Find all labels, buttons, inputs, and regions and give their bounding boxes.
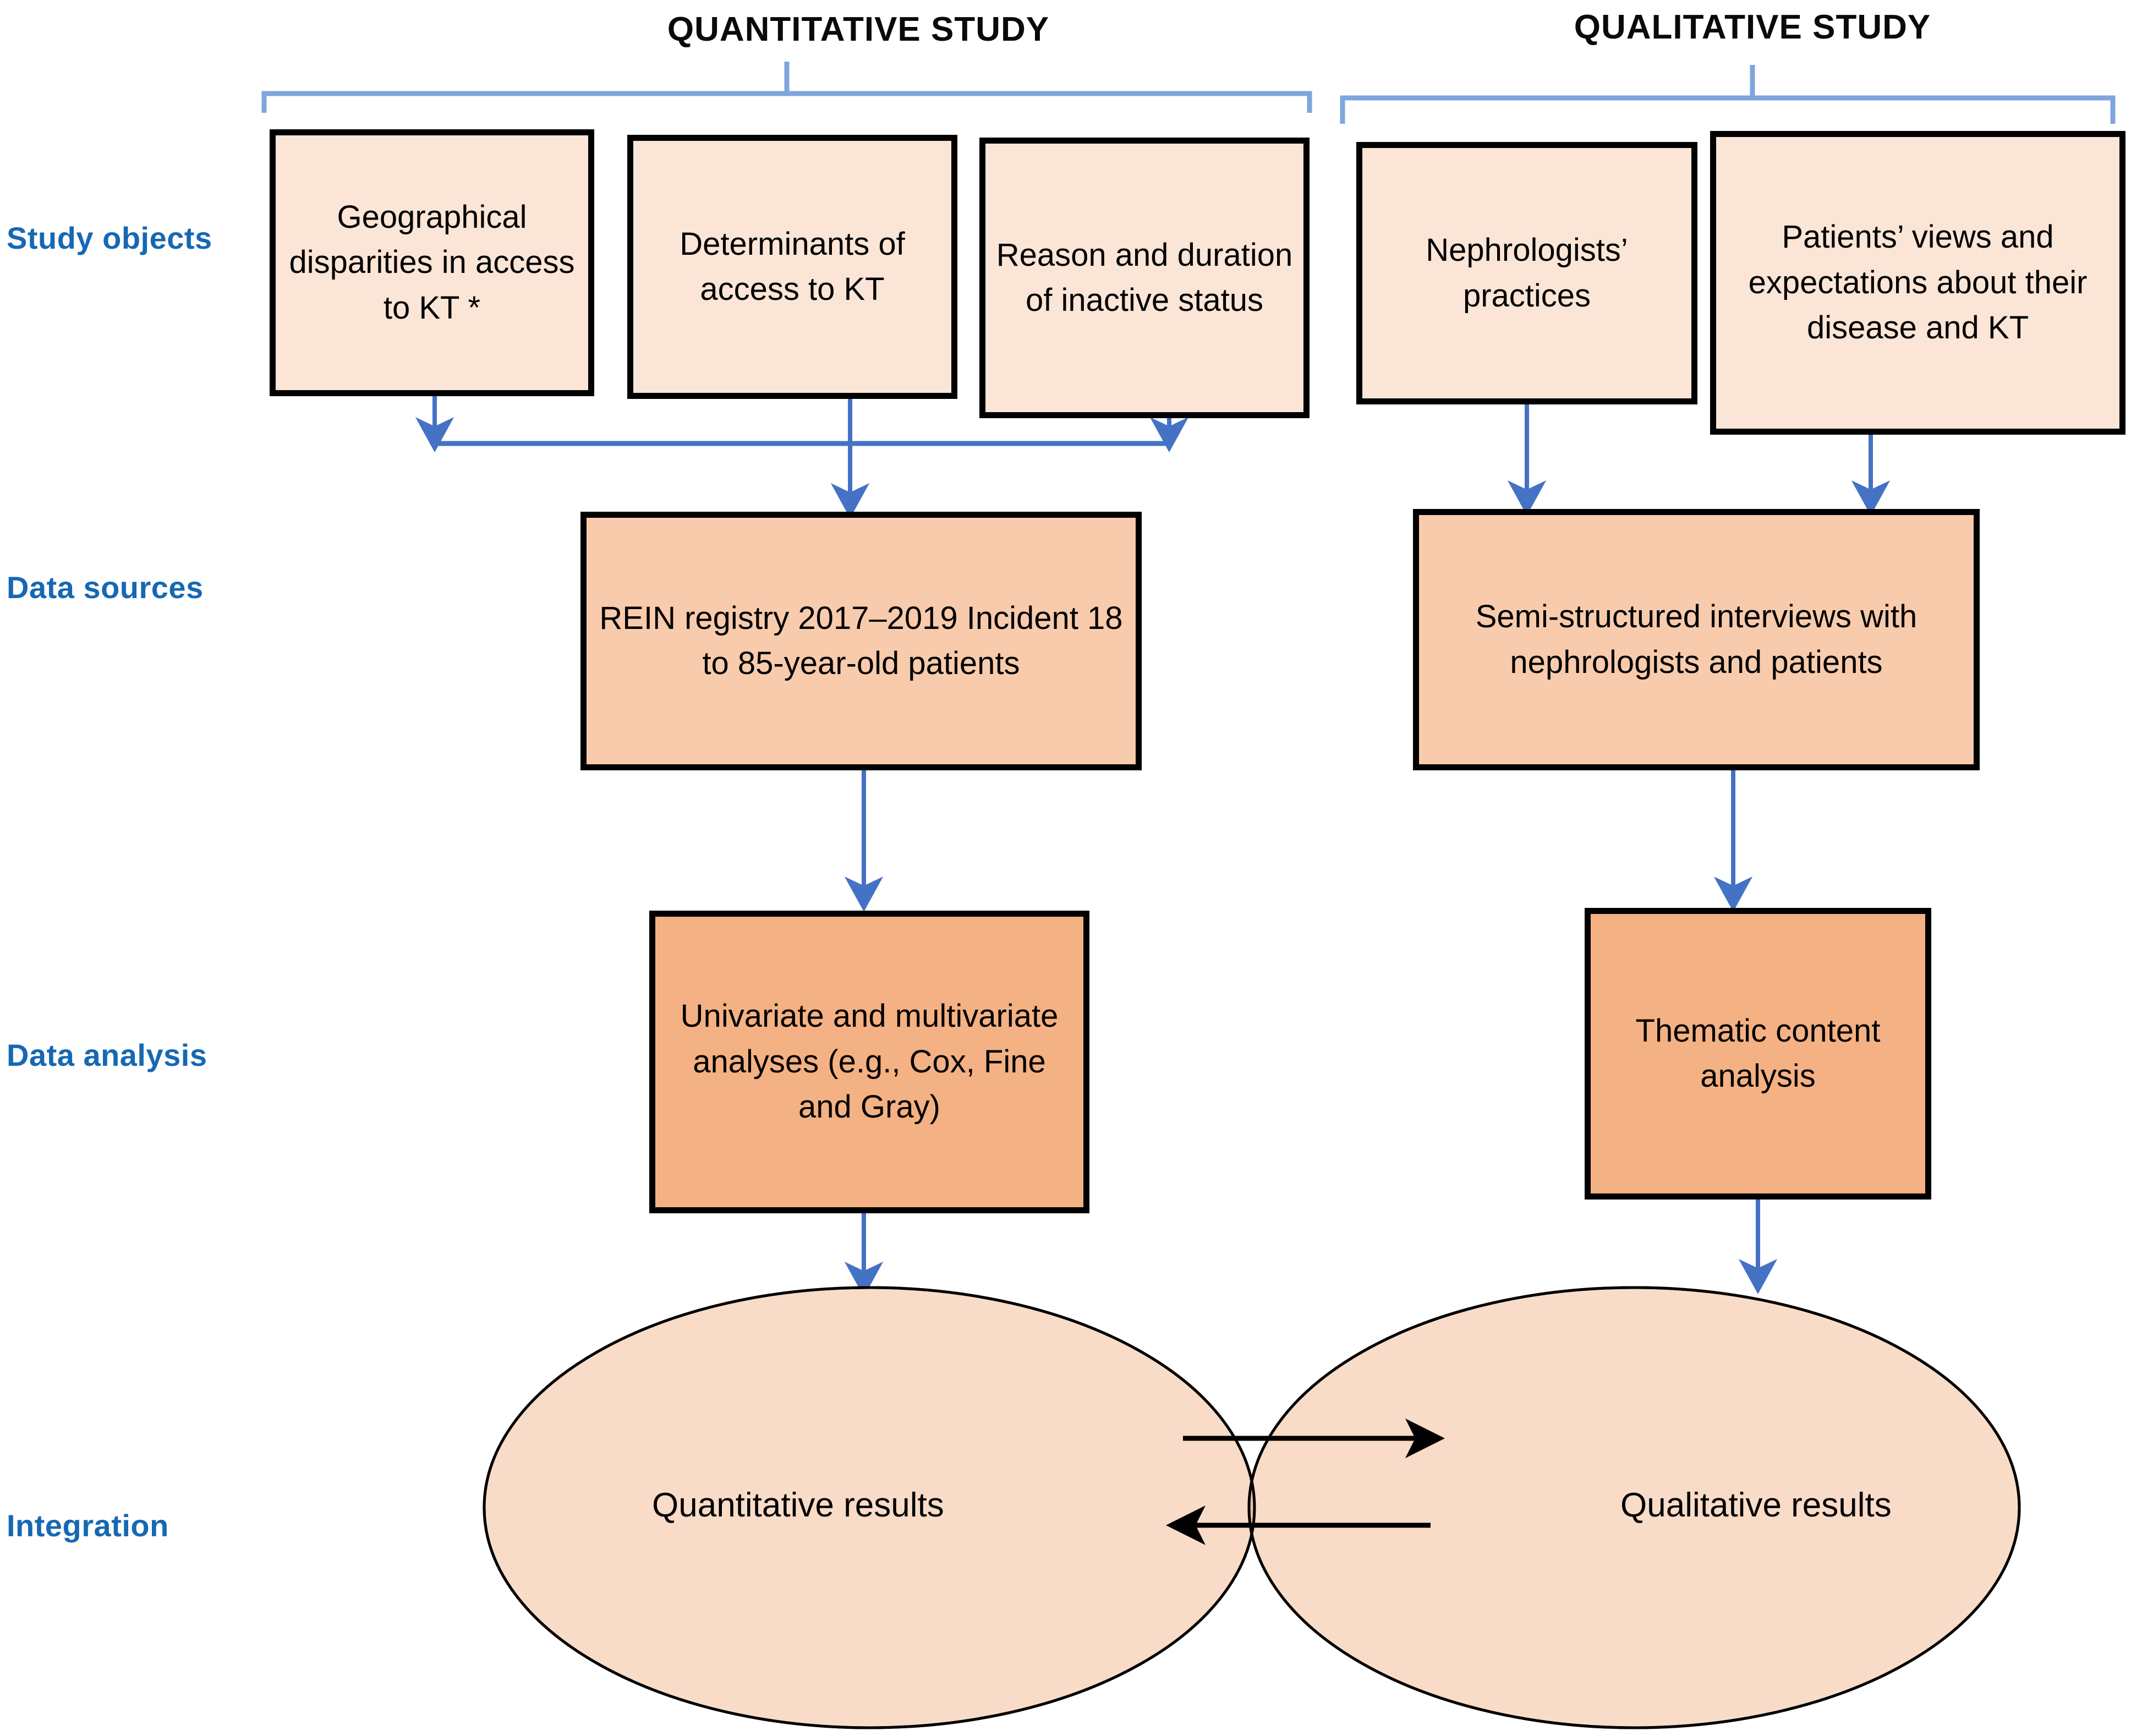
heading-quantitative-study: QUANTITATIVE STUDY: [611, 10, 1106, 49]
box-rein-registry[interactable]: REIN registry 2017–2019 Incident 18 to 8…: [580, 512, 1142, 770]
bracket-qualitative: [1343, 65, 2113, 124]
box-geographical-disparities-text: Geographical disparities in access to KT…: [283, 195, 580, 331]
box-reason-duration-inactive[interactable]: Reason and duration of inactive status: [979, 138, 1310, 418]
box-thematic-content-analysis-text: Thematic content analysis: [1598, 1009, 1918, 1099]
box-univariate-multivariate-text: Univariate and multivariate analyses (e.…: [663, 994, 1076, 1130]
box-thematic-content-analysis[interactable]: Thematic content analysis: [1585, 908, 1931, 1200]
box-geographical-disparities[interactable]: Geographical disparities in access to KT…: [270, 129, 594, 396]
row-label-integration: Integration: [7, 1508, 169, 1543]
box-rein-registry-text: REIN registry 2017–2019 Incident 18 to 8…: [594, 596, 1128, 687]
box-determinants-access[interactable]: Determinants of access to KT: [627, 135, 957, 399]
box-semi-structured-interviews-text: Semi-structured interviews with nephrolo…: [1427, 594, 1966, 685]
box-determinants-access-text: Determinants of access to KT: [641, 222, 944, 313]
row-label-study-objects: Study objects: [7, 220, 212, 256]
box-univariate-multivariate[interactable]: Univariate and multivariate analyses (e.…: [649, 911, 1089, 1213]
box-nephrologists-practices-text: Nephrologists’ practices: [1370, 228, 1684, 319]
box-reason-duration-inactive-text: Reason and duration of inactive status: [993, 233, 1296, 324]
venn-right-label: Qualitative results: [1620, 1486, 1892, 1525]
box-semi-structured-interviews[interactable]: Semi-structured interviews with nephrolo…: [1413, 509, 1980, 770]
row-label-data-analysis: Data analysis: [7, 1037, 207, 1073]
row-label-data-sources: Data sources: [7, 569, 204, 605]
figure-canvas: QUANTITATIVE STUDY QUALITATIVE STUDY Stu…: [0, 0, 2142, 1736]
box-patients-views[interactable]: Patients’ views and expectations about t…: [1710, 131, 2125, 435]
venn-left-label: Quantitative results: [652, 1486, 944, 1525]
bracket-quantitative: [264, 62, 1310, 113]
box-patients-views-text: Patients’ views and expectations about t…: [1724, 215, 2112, 351]
box-nephrologists-practices[interactable]: Nephrologists’ practices: [1356, 142, 1697, 404]
heading-qualitative-study: QUALITATIVE STUDY: [1488, 8, 2017, 47]
